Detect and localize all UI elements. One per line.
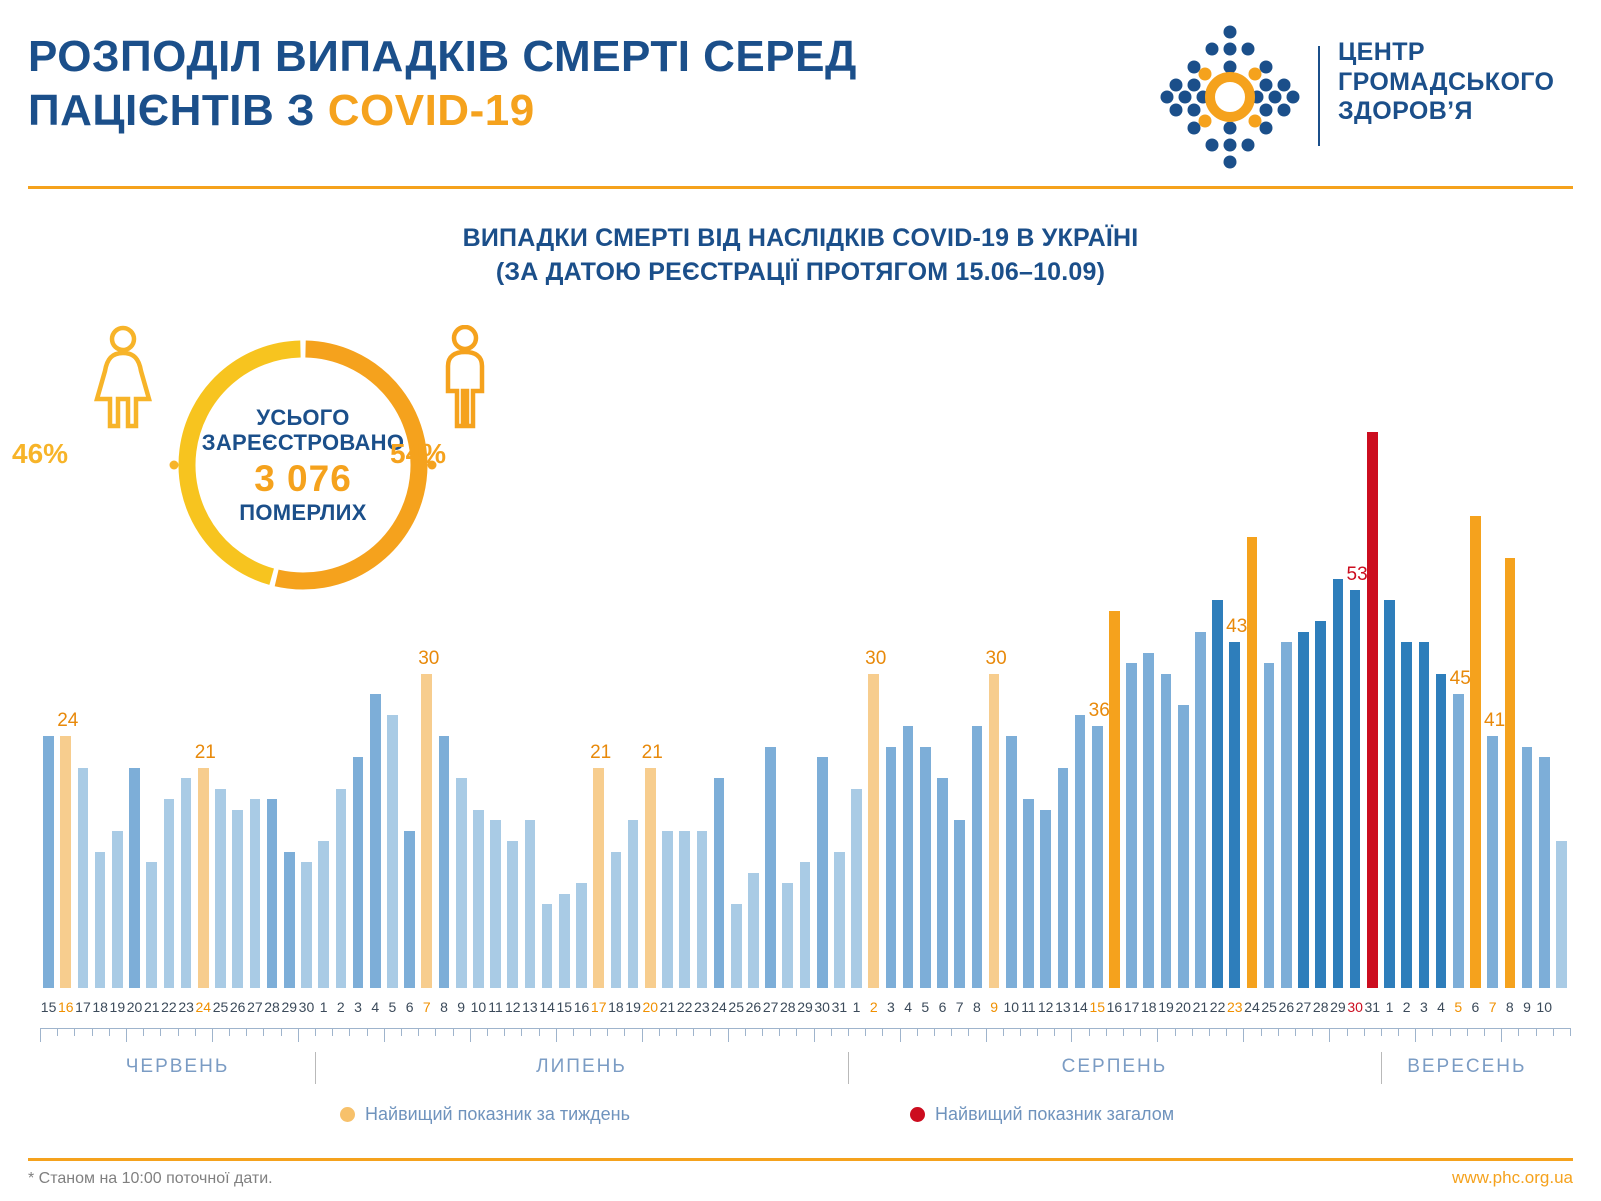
x-axis-label: 2 xyxy=(1398,998,1415,1016)
bar-column xyxy=(1109,380,1120,988)
bar-column xyxy=(886,380,897,988)
bar-column xyxy=(1384,380,1395,988)
bar xyxy=(1350,590,1361,988)
bar xyxy=(1281,642,1292,988)
bar xyxy=(181,778,192,988)
bar-value-label: 36 xyxy=(1089,701,1106,720)
bar xyxy=(60,736,71,988)
x-axis-label: 9 xyxy=(986,998,1003,1016)
bar-column xyxy=(1212,380,1223,988)
website-url[interactable]: www.phc.org.ua xyxy=(1452,1168,1573,1188)
bar xyxy=(903,726,914,988)
x-axis-label: 11 xyxy=(487,998,504,1016)
axis-tick xyxy=(195,1028,196,1036)
x-axis-label: 6 xyxy=(934,998,951,1016)
bar-column xyxy=(851,380,862,988)
month-label: ВЕРЕСЕНЬ xyxy=(1381,1050,1553,1084)
axis-tick xyxy=(1570,1028,1571,1036)
x-axis-label: 31 xyxy=(831,998,848,1016)
bar xyxy=(593,768,604,988)
bar xyxy=(1229,642,1240,988)
x-axis-label: 16 xyxy=(57,998,74,1016)
bar xyxy=(232,810,243,988)
axis-tick xyxy=(1501,1028,1502,1042)
x-axis-label: 27 xyxy=(246,998,263,1016)
x-axis-label: 31 xyxy=(1364,998,1381,1016)
bar xyxy=(679,831,690,988)
bar xyxy=(198,768,209,988)
bar-column xyxy=(731,380,742,988)
x-axis-label: 10 xyxy=(470,998,487,1016)
bar-column xyxy=(748,380,759,988)
bar-column xyxy=(95,380,106,988)
axis-tick xyxy=(74,1028,75,1036)
axis-tick xyxy=(126,1028,127,1042)
bar-column xyxy=(1195,380,1206,988)
x-axis-label: 8 xyxy=(968,998,985,1016)
x-axis-label: 21 xyxy=(1192,998,1209,1016)
axis-tick xyxy=(968,1028,969,1036)
bar xyxy=(920,747,931,988)
axis-tick xyxy=(1536,1028,1537,1036)
x-axis-label: 14 xyxy=(539,998,556,1016)
bar-column xyxy=(370,380,381,988)
axis-tick xyxy=(539,1028,540,1036)
x-axis-label: 8 xyxy=(435,998,452,1016)
axis-tick xyxy=(1003,1028,1004,1036)
axis-tick xyxy=(435,1028,436,1036)
bar-column xyxy=(1161,380,1172,988)
bar-column xyxy=(215,380,226,988)
bar-column xyxy=(146,380,157,988)
x-axis-label: 19 xyxy=(624,998,641,1016)
bar-column xyxy=(903,380,914,988)
bar-column xyxy=(267,380,278,988)
bar-column xyxy=(662,380,673,988)
bar xyxy=(250,799,261,988)
axis-tick xyxy=(143,1028,144,1036)
axis-tick xyxy=(92,1028,93,1036)
bar-column xyxy=(525,380,536,988)
bar xyxy=(628,820,639,988)
axis-tick xyxy=(1089,1028,1090,1036)
x-axis-label: 15 xyxy=(40,998,57,1016)
bar xyxy=(387,715,398,988)
x-axis-label: 7 xyxy=(1484,998,1501,1016)
bar xyxy=(421,674,432,988)
axis-tick xyxy=(1415,1028,1416,1042)
axis-tick xyxy=(263,1028,264,1036)
bar-column xyxy=(181,380,192,988)
axis-tick xyxy=(1261,1028,1262,1036)
x-axis-label: 28 xyxy=(263,998,280,1016)
axis-tick xyxy=(1192,1028,1193,1036)
x-axis-label: 2 xyxy=(332,998,349,1016)
bar xyxy=(886,747,897,988)
x-axis-label: 16 xyxy=(1106,998,1123,1016)
bar-column xyxy=(1075,380,1086,988)
axis-tick xyxy=(212,1028,213,1042)
axis-tick xyxy=(1157,1028,1158,1042)
axis-tick xyxy=(693,1028,694,1036)
bar xyxy=(473,810,484,988)
axis-tick xyxy=(349,1028,350,1036)
bar-column xyxy=(645,380,656,988)
month-separator xyxy=(315,1052,316,1084)
axis-tick xyxy=(1175,1028,1176,1036)
bar xyxy=(284,852,295,988)
x-axis-label: 2 xyxy=(865,998,882,1016)
bar xyxy=(1195,632,1206,988)
x-axis-label: 12 xyxy=(504,998,521,1016)
bar-column xyxy=(1505,380,1516,988)
bar xyxy=(576,883,587,988)
bar-column xyxy=(250,380,261,988)
bar xyxy=(1058,768,1069,988)
bar xyxy=(215,789,226,988)
bar-column xyxy=(1419,380,1430,988)
bar-column xyxy=(1178,380,1189,988)
bar xyxy=(404,831,415,988)
axis-tick xyxy=(160,1028,161,1036)
footnote: * Станом на 10:00 поточної дати. xyxy=(28,1170,273,1188)
bar-column xyxy=(336,380,347,988)
bar xyxy=(1453,694,1464,988)
bar xyxy=(1143,653,1154,988)
axis-tick xyxy=(1484,1028,1485,1036)
bar-column xyxy=(954,380,965,988)
bar-column xyxy=(542,380,553,988)
x-axis-label: 20 xyxy=(642,998,659,1016)
bar xyxy=(834,852,845,988)
axis-tick xyxy=(384,1028,385,1042)
axis-tick xyxy=(659,1028,660,1036)
x-axis-label: 30 xyxy=(298,998,315,1016)
x-axis-label: 21 xyxy=(659,998,676,1016)
bar xyxy=(370,694,381,988)
axis-tick xyxy=(1123,1028,1124,1036)
x-axis-label: 11 xyxy=(1020,998,1037,1016)
legend-week-dot-icon xyxy=(340,1107,355,1122)
axis-tick xyxy=(281,1028,282,1036)
bar-column xyxy=(1092,380,1103,988)
bar xyxy=(1401,642,1412,988)
legend-overall-label: Найвищий показник загалом xyxy=(935,1104,1174,1125)
axis-tick xyxy=(762,1028,763,1036)
bar-column xyxy=(628,380,639,988)
bar xyxy=(817,757,828,988)
legend-week-label: Найвищий показник за тиждень xyxy=(365,1104,630,1125)
axis-tick xyxy=(951,1028,952,1036)
bar-column xyxy=(1040,380,1051,988)
bar-column xyxy=(1229,380,1240,988)
bar-value-label: 24 xyxy=(57,711,74,730)
month-separator xyxy=(1381,1052,1382,1084)
bar xyxy=(1247,537,1258,988)
bar-column xyxy=(1058,380,1069,988)
bar-series: 242130212130303643534541 xyxy=(40,380,1570,988)
axis-tick xyxy=(1312,1028,1313,1036)
x-axis-label: 23 xyxy=(1226,998,1243,1016)
x-axis-label: 26 xyxy=(745,998,762,1016)
bar xyxy=(1298,632,1309,988)
bar-column xyxy=(198,380,209,988)
x-axis-label: 18 xyxy=(1140,998,1157,1016)
bar-column xyxy=(679,380,690,988)
bar xyxy=(267,799,278,988)
bar xyxy=(301,862,312,988)
bar-column xyxy=(1401,380,1412,988)
bar xyxy=(697,831,708,988)
x-axis-label: 7 xyxy=(418,998,435,1016)
bar xyxy=(490,820,501,988)
bar-column xyxy=(559,380,570,988)
bar xyxy=(611,852,622,988)
axis-tick xyxy=(1226,1028,1227,1036)
x-axis-label: 22 xyxy=(676,998,693,1016)
bar xyxy=(542,904,553,988)
bar-column xyxy=(1539,380,1550,988)
axis-tick xyxy=(642,1028,643,1042)
bar xyxy=(731,904,742,988)
bar xyxy=(1161,674,1172,988)
x-axis-label: 5 xyxy=(917,998,934,1016)
axis-tick xyxy=(367,1028,368,1036)
bar-column xyxy=(164,380,175,988)
axis-tick xyxy=(487,1028,488,1036)
axis-tick xyxy=(917,1028,918,1036)
axis-tick xyxy=(848,1028,849,1036)
bar xyxy=(1092,726,1103,988)
bar xyxy=(353,757,364,988)
axis-tick xyxy=(1553,1028,1554,1036)
bar xyxy=(662,831,673,988)
bar xyxy=(78,768,89,988)
bar xyxy=(164,799,175,988)
bar-column xyxy=(714,380,725,988)
axis-tick xyxy=(986,1028,987,1042)
axis-tick xyxy=(556,1028,557,1042)
x-axis-label: 15 xyxy=(556,998,573,1016)
x-axis-label: 14 xyxy=(1071,998,1088,1016)
axis-tick xyxy=(1106,1028,1107,1036)
bar-column xyxy=(1470,380,1481,988)
axis-tick xyxy=(1071,1028,1072,1042)
bar-column xyxy=(972,380,983,988)
axis-tick xyxy=(1209,1028,1210,1036)
x-axis-label: 8 xyxy=(1501,998,1518,1016)
axis-tick xyxy=(109,1028,110,1036)
x-axis-label: 29 xyxy=(796,998,813,1016)
x-axis-label: 23 xyxy=(693,998,710,1016)
month-separator xyxy=(848,1052,849,1084)
bar-column xyxy=(920,380,931,988)
bar xyxy=(1522,747,1533,988)
bar xyxy=(1178,705,1189,988)
x-axis-label: 4 xyxy=(367,998,384,1016)
bar xyxy=(1436,674,1447,988)
x-axis-label: 21 xyxy=(143,998,160,1016)
x-axis-label: 1 xyxy=(315,998,332,1016)
x-axis-label: 24 xyxy=(195,998,212,1016)
axis-baseline xyxy=(40,1028,1570,1029)
bar xyxy=(1212,600,1223,988)
x-axis-label: 13 xyxy=(521,998,538,1016)
bar-column xyxy=(611,380,622,988)
bar xyxy=(989,674,1000,988)
bar xyxy=(972,726,983,988)
bar-column xyxy=(60,380,71,988)
x-axis-label: 9 xyxy=(453,998,470,1016)
bar-column xyxy=(817,380,828,988)
bar xyxy=(954,820,965,988)
bar xyxy=(1126,663,1137,988)
bar-column xyxy=(353,380,364,988)
bar-column xyxy=(782,380,793,988)
bar-value-label: 30 xyxy=(986,649,1003,668)
bar xyxy=(439,736,450,988)
bar-column xyxy=(1367,380,1378,988)
bar-column xyxy=(232,380,243,988)
bar-value-label: 21 xyxy=(642,743,659,762)
bar-column xyxy=(439,380,450,988)
x-axis-label: 3 xyxy=(882,998,899,1016)
axis-tick xyxy=(57,1028,58,1036)
bar-column xyxy=(1350,380,1361,988)
bar xyxy=(1109,611,1120,988)
axis-tick xyxy=(1278,1028,1279,1036)
month-label: СЕРПЕНЬ xyxy=(848,1050,1381,1084)
bar-value-label: 43 xyxy=(1226,617,1243,636)
axis-tick xyxy=(1054,1028,1055,1036)
bar-column xyxy=(576,380,587,988)
x-axis-label: 1 xyxy=(848,998,865,1016)
bar-column xyxy=(129,380,140,988)
axis-tick xyxy=(178,1028,179,1036)
x-axis-label: 29 xyxy=(1329,998,1346,1016)
axis-tick xyxy=(1020,1028,1021,1036)
x-axis-label: 5 xyxy=(384,998,401,1016)
bar-column xyxy=(43,380,54,988)
bar-column xyxy=(1264,380,1275,988)
bar xyxy=(714,778,725,988)
axis-tick xyxy=(814,1028,815,1042)
x-axis-label: 22 xyxy=(1209,998,1226,1016)
bar xyxy=(318,841,329,988)
axis-tick xyxy=(607,1028,608,1036)
axis-tick xyxy=(1381,1028,1382,1036)
x-axis-label: 6 xyxy=(1467,998,1484,1016)
axis-tick xyxy=(229,1028,230,1036)
axis-tick xyxy=(246,1028,247,1036)
bar-column xyxy=(1247,380,1258,988)
x-axis-label: 19 xyxy=(109,998,126,1016)
bar-column xyxy=(1315,380,1326,988)
x-axis-label: 6 xyxy=(401,998,418,1016)
bar-column xyxy=(421,380,432,988)
bar xyxy=(1333,579,1344,988)
x-axis-label: 20 xyxy=(126,998,143,1016)
x-axis-label: 28 xyxy=(1312,998,1329,1016)
month-label: ЧЕРВЕНЬ xyxy=(40,1050,315,1084)
bar-column xyxy=(1522,380,1533,988)
bar xyxy=(43,736,54,988)
bar-column xyxy=(937,380,948,988)
x-axis-label: 23 xyxy=(178,998,195,1016)
bar xyxy=(146,862,157,988)
bar-value-label: 30 xyxy=(865,649,882,668)
x-axis-label: 30 xyxy=(814,998,831,1016)
bar-column xyxy=(404,380,415,988)
bar-column xyxy=(78,380,89,988)
bar-value-label: 53 xyxy=(1347,565,1364,584)
x-axis-label: 26 xyxy=(229,998,246,1016)
axis-tick xyxy=(1329,1028,1330,1042)
bar-column xyxy=(1333,380,1344,988)
axis-tick xyxy=(882,1028,883,1036)
axis-tick xyxy=(590,1028,591,1036)
x-axis-label: 28 xyxy=(779,998,796,1016)
axis-tick xyxy=(1140,1028,1141,1036)
x-axis-month-labels: ЧЕРВЕНЬЛИПЕНЬСЕРПЕНЬВЕРЕСЕНЬ xyxy=(40,1050,1570,1086)
bar-column xyxy=(1126,380,1137,988)
bar-column xyxy=(112,380,123,988)
axis-tick xyxy=(1518,1028,1519,1036)
bar-column xyxy=(1298,380,1309,988)
x-axis-label: 24 xyxy=(710,998,727,1016)
bar-column xyxy=(301,380,312,988)
bar xyxy=(1384,600,1395,988)
bar-column xyxy=(1487,380,1498,988)
bar xyxy=(645,768,656,988)
bar-column xyxy=(507,380,518,988)
bar xyxy=(1040,810,1051,988)
bar-column xyxy=(834,380,845,988)
axis-tick xyxy=(418,1028,419,1036)
bar-column xyxy=(1143,380,1154,988)
bar xyxy=(1315,621,1326,988)
x-axis-label: 24 xyxy=(1243,998,1260,1016)
bar xyxy=(95,852,106,988)
axis-tick xyxy=(900,1028,901,1042)
bar xyxy=(507,841,518,988)
bar xyxy=(765,747,776,988)
x-axis-label: 4 xyxy=(900,998,917,1016)
x-axis-label: 3 xyxy=(349,998,366,1016)
bar-column xyxy=(697,380,708,988)
bar xyxy=(1075,715,1086,988)
x-axis-label: 13 xyxy=(1054,998,1071,1016)
x-axis-label: 19 xyxy=(1157,998,1174,1016)
legend-item-overall: Найвищий показник загалом xyxy=(910,1104,1174,1125)
axis-tick xyxy=(779,1028,780,1036)
bar xyxy=(1487,736,1498,988)
x-axis-label: 25 xyxy=(212,998,229,1016)
x-axis-label: 22 xyxy=(160,998,177,1016)
x-axis-label: 18 xyxy=(607,998,624,1016)
deaths-bar-chart: 242130212130303643534541 151617181920212… xyxy=(0,0,1601,1201)
bar-value-label: 30 xyxy=(418,649,435,668)
axis-tick xyxy=(521,1028,522,1036)
x-axis-label: 5 xyxy=(1450,998,1467,1016)
bar xyxy=(1505,558,1516,988)
bar xyxy=(748,873,759,988)
x-axis-label: 17 xyxy=(74,998,91,1016)
bar-column xyxy=(284,380,295,988)
axis-tick xyxy=(298,1028,299,1042)
axis-tick xyxy=(865,1028,866,1036)
bar xyxy=(525,820,536,988)
